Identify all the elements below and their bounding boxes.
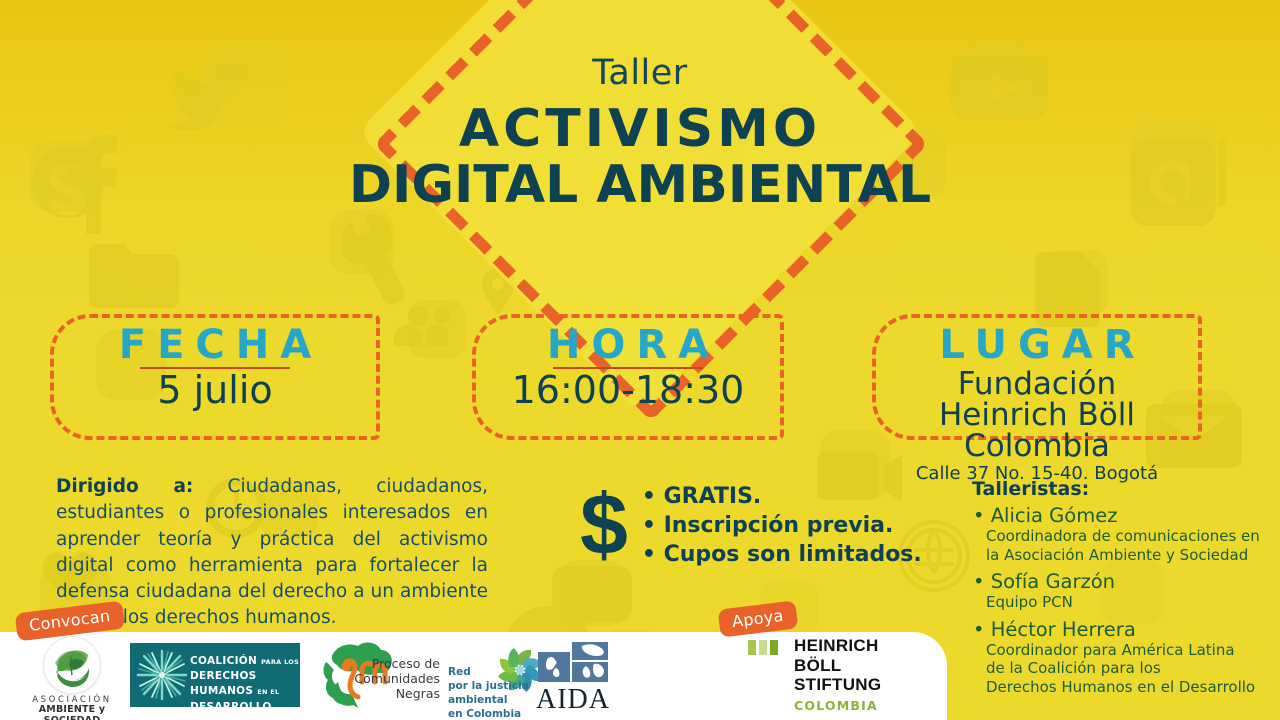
speaker-item: Alicia Gómez Coordinadora de comunicacio… [986,505,1272,564]
speaker-role-line: Derechos Humanos en el Desarrollo [986,678,1272,696]
logo-pcn-line1: Proceso de [372,656,440,671]
info-boxes: FECHA 5 julio HORA 16:00-18:30 LUGAR Fun… [0,314,1280,446]
cost-item: Cupos son limitados. [642,540,922,569]
logo-pcn-line3: Negras [396,686,440,701]
speakers-heading: Talleristas: [972,478,1272,500]
info-box-lugar-venue-line1: Fundación [958,369,1116,400]
info-box-hora: HORA 16:00-18:30 [472,314,784,440]
info-box-hora-value: 16:00-18:30 [512,371,745,411]
logo-red-text: Red por la justicia ambiental en Colombi… [448,666,529,720]
logo-boell-line2: BÖLL [794,656,881,676]
logo-boell-country: COLOMBIA [794,698,878,713]
logo-coalicion-derechos-humanos: COALICIÓN PARA LOS DERECHOS HUMANOS EN E… [130,643,300,707]
info-box-hora-heading: HORA [536,318,720,366]
boell-bars-icon [748,640,788,655]
speaker-role-line: la Asociación Ambiente y Sociedad [986,546,1272,564]
logo-red-line2: por la justicia [448,680,529,694]
page-title-line2: DIGITAL AMBIENTAL [0,158,1280,213]
speaker-role-line: Equipo PCN [986,593,1272,611]
logo-pcn-line2: Comunidades [354,671,440,686]
logo-boell-line1: HEINRICH [794,636,881,656]
info-box-fecha-heading: FECHA [108,318,322,366]
speaker-name: Alicia Gómez [986,505,1272,527]
logo-coalicion-line2-small: EN EL [257,688,279,696]
speaker-role-line: Coordinadora de comunicaciones en [986,527,1272,545]
info-box-fecha-value: 5 julio [157,371,272,411]
logo-red-line4: en Colombia [448,708,529,720]
info-box-lugar-venue-line2: Heinrich Böll Colombia [876,400,1198,462]
speaker-item: Héctor Herrera Coordinador para América … [986,619,1272,696]
info-box-fecha: FECHA 5 julio [50,314,380,440]
logo-red-line1: Red [448,666,529,680]
logo-coalicion-line1-small: PARA LOS [261,658,299,666]
logo-asociacion-ambiente-sociedad: ASOCIACIÓN AMBIENTE y SOCIEDAD [20,636,124,716]
title-eyebrow: Taller [0,56,1280,91]
logo-aida: AIDA [528,640,618,712]
info-box-lugar: LUGAR Fundación Heinrich Böll Colombia C… [872,314,1202,440]
cost-item: Inscripción previa. [642,511,922,540]
speaker-role-line: Coordinador para América Latina [986,641,1272,659]
logo-coalicion-line1-bold: COALICIÓN [190,655,257,667]
logo-coalicion-line3: DESARROLLO [190,700,300,715]
aida-map-icon [536,640,610,684]
page-title-line1: ACTIVISMO [0,103,1280,156]
logo-coalicion-text: COALICIÓN PARA LOS DERECHOS HUMANOS EN E… [190,654,300,715]
speakers-block: Talleristas: Alicia Gómez Coordinadora d… [972,478,1272,703]
logo-aida-name: AIDA [528,684,618,716]
burst-icon [134,647,190,703]
logo-red-line3: ambiental [448,694,529,708]
cost-item: GRATIS. [642,482,922,511]
logo-coalicion-line2: DERECHOS HUMANOS EN EL [190,669,300,699]
speaker-item: Sofía Garzón Equipo PCN [986,571,1272,612]
poster-title-block: Taller ACTIVISMO DIGITAL AMBIENTAL [0,56,1280,213]
logo-coalicion-line2-bold: DERECHOS HUMANOS [190,670,257,697]
speaker-role-line: de la Coalición para los [986,659,1272,677]
logo-pcn: Proceso de Comunidades Negras [312,640,442,712]
logo-heinrich-boll-stiftung: HEINRICH BÖLL STIFTUNG COLOMBIA [748,636,928,716]
logo-boell-text: HEINRICH BÖLL STIFTUNG [794,636,881,695]
cost-list: GRATIS. Inscripción previa. Cupos son li… [642,482,922,569]
audience-label: Dirigido a: [56,476,193,497]
poster-canvas: Taller ACTIVISMO DIGITAL AMBIENTAL FECHA… [0,0,1280,720]
logo-coalicion-line1: COALICIÓN PARA LOS [190,654,300,669]
dollar-sign-icon: $ [580,486,628,565]
logo-boell-line3: STIFTUNG [794,675,881,695]
speaker-name: Héctor Herrera [986,619,1272,641]
info-box-lugar-heading: LUGAR [928,318,1145,366]
leaf-hand-icon [44,637,100,693]
speaker-name: Sofía Garzón [986,571,1272,593]
cost-block: $ GRATIS. Inscripción previa. Cupos son … [580,482,910,569]
logo-asociacion-line2: AMBIENTE y SOCIEDAD [20,704,124,720]
